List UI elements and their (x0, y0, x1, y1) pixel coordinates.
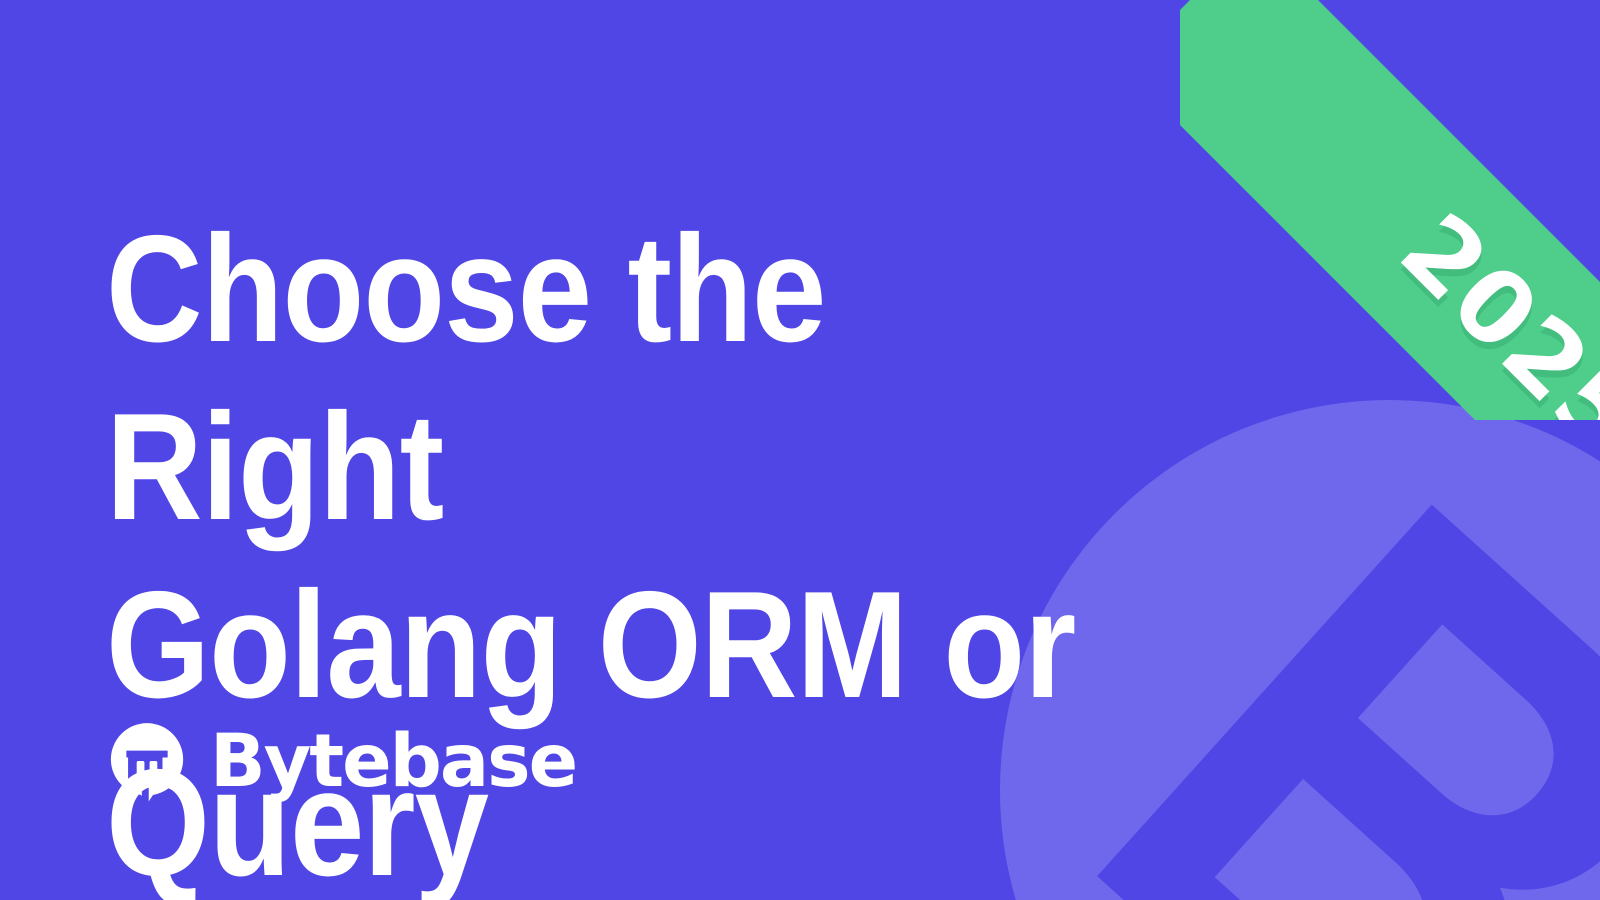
blog-cover-card: 2025 Choose the Right Golang ORM or Quer… (0, 0, 1600, 900)
brand-logo: Bytebase (104, 718, 576, 804)
year-ribbon: 2025 (1180, 0, 1600, 420)
ribbon-year-label: 2025 (1214, 28, 1600, 420)
brand-name: Bytebase (210, 725, 576, 798)
bytebase-logo-icon (104, 718, 190, 804)
ribbon-band: 2025 (1180, 0, 1600, 420)
